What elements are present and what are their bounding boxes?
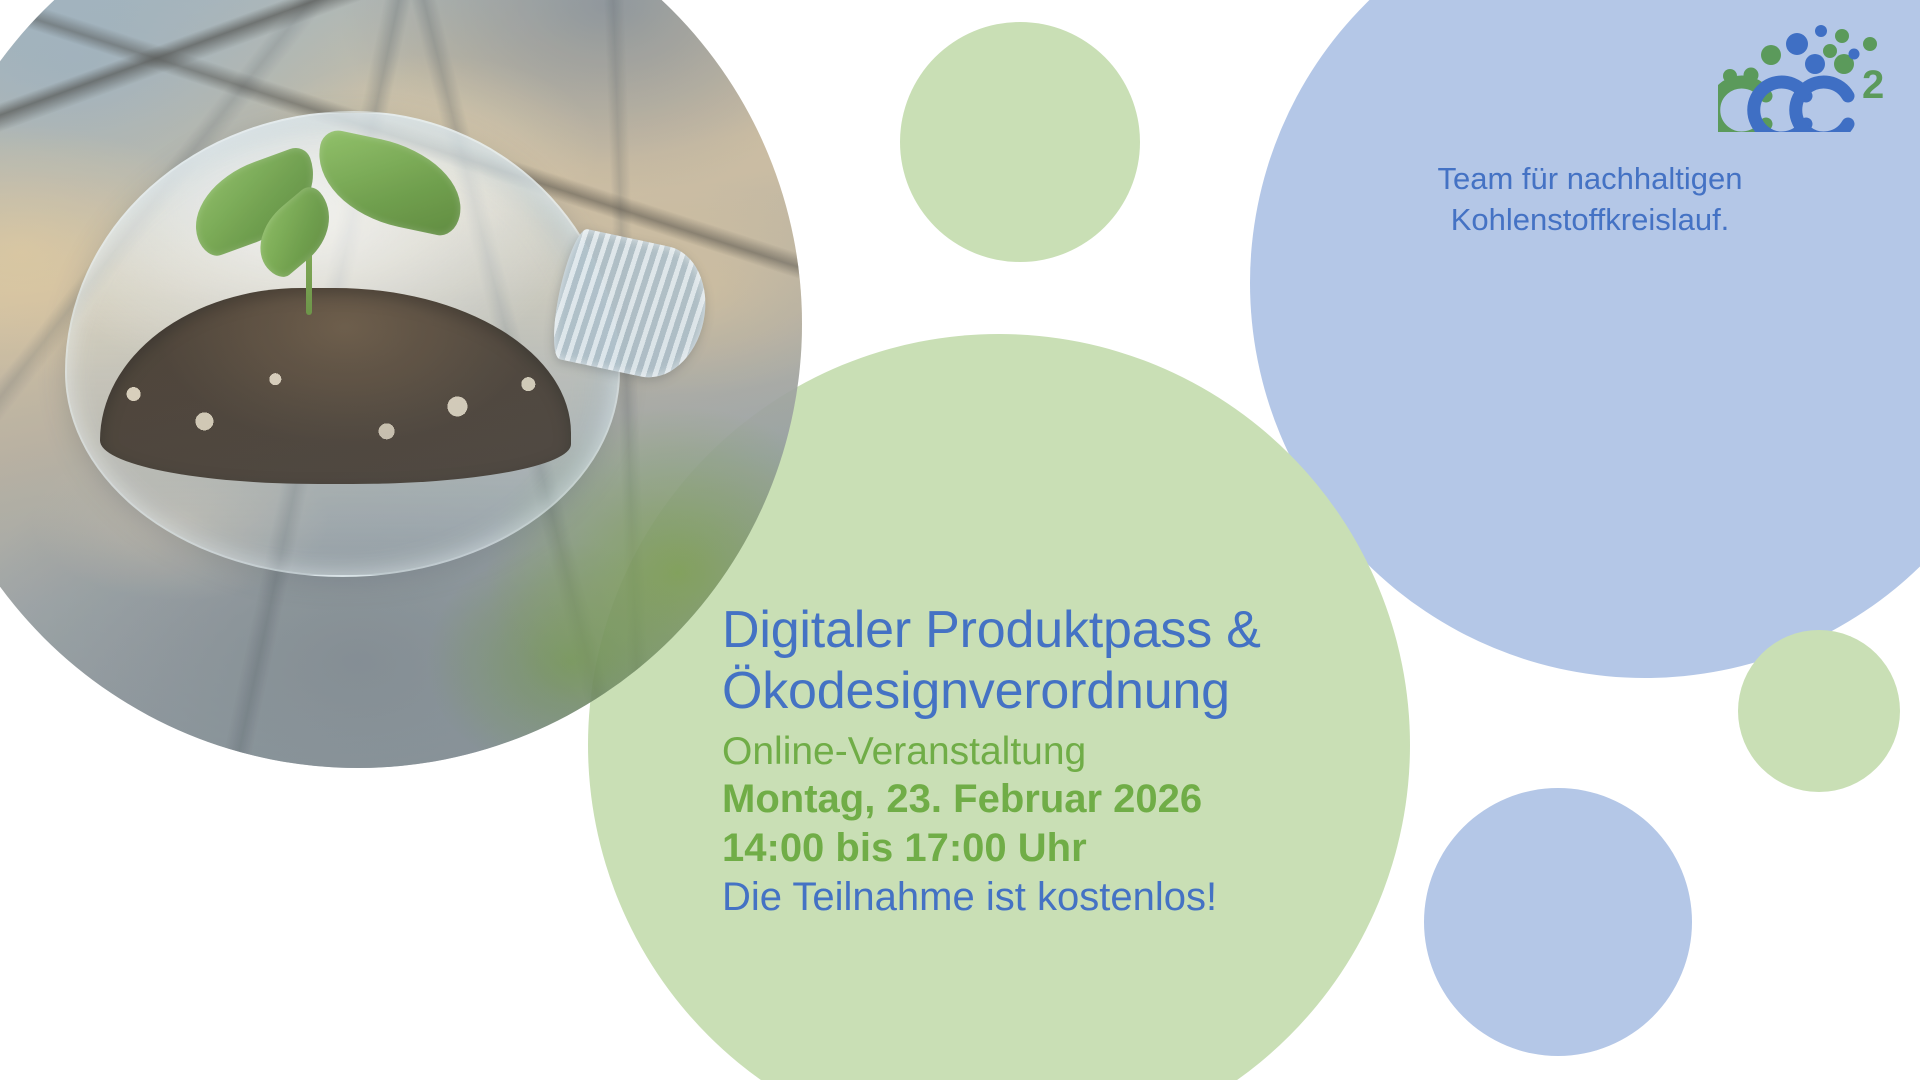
decorative-circle-green-top [900,22,1140,262]
hero-photo-lightbulb-sprout [0,0,802,768]
event-details: Digitaler Produktpass & Ökodesignverordn… [722,600,1362,922]
logo-superscript-two: 2 [1862,63,1884,107]
event-date: Montag, 23. Februar 2026 [722,775,1362,824]
logo-dot-blue-2 [1815,25,1827,37]
tagline-line-1: Team für nachhaltigen [1380,158,1800,199]
tagline-line-2: Kohlenstoffkreislauf. [1380,199,1800,240]
logo-dot-blue-3 [1805,54,1825,74]
event-title-line-1: Digitaler Produktpass & [722,600,1362,661]
brand-tagline: Team für nachhaltigen Kohlenstoffkreisla… [1380,158,1800,240]
event-title-line-2: Ökodesignverordnung [722,661,1362,722]
logo-letter-c-blue-2 [1796,82,1848,132]
logo-dot-blue-4 [1849,49,1860,60]
logo-dot-green-3 [1761,45,1781,65]
event-time: 14:00 bis 17:00 Uhr [722,824,1362,873]
logo-dot-green-5 [1835,29,1849,43]
photo-color-tint [0,0,802,768]
logo-dot-blue-1 [1786,33,1808,55]
logo-dot-green-4 [1823,44,1837,58]
decorative-circle-blue-bottom [1424,788,1692,1056]
occ2-logo: 2 [1718,20,1898,132]
event-format: Online-Veranstaltung [722,728,1362,776]
event-banner: 2 Team für nachhaltigen Kohlenstoffkreis… [0,0,1920,1080]
logo-dot-green-7 [1863,37,1877,51]
decorative-circle-green-small [1738,630,1900,792]
event-price-note: Die Teilnahme ist kostenlos! [722,873,1362,922]
